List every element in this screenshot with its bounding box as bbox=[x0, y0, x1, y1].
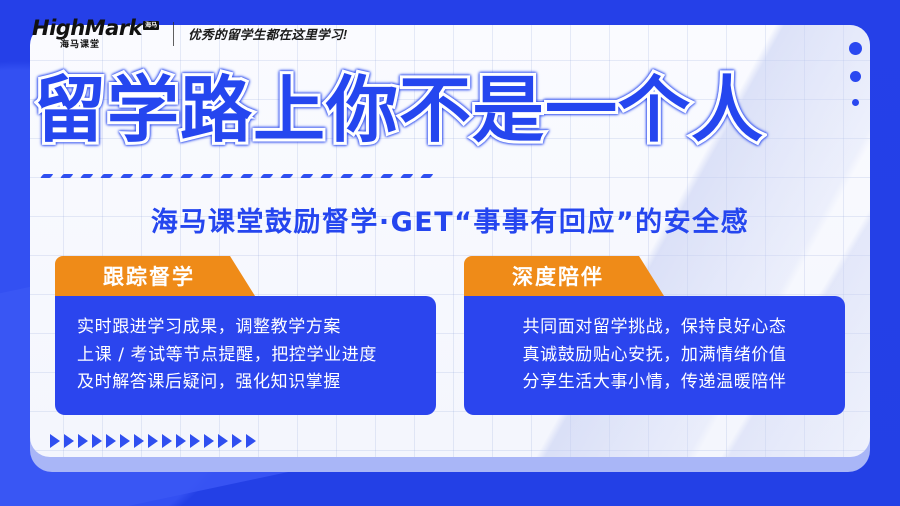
arrow-mark bbox=[50, 434, 60, 448]
dash-mark bbox=[81, 174, 94, 178]
feature-line: 及时解答课后疑问，强化知识掌握 bbox=[77, 369, 416, 397]
logo-wordmark: HighMark海马 bbox=[32, 18, 159, 39]
dot-decoration bbox=[849, 42, 862, 106]
dot-small bbox=[852, 99, 859, 106]
dash-mark bbox=[161, 174, 174, 178]
dash-mark bbox=[281, 174, 294, 178]
feature-card-companionship: 深度陪伴 共同面对留学挑战，保持良好心态 真诚鼓励贴心安抚，加满情绪价值 分享生… bbox=[464, 256, 845, 415]
feature-card-body: 共同面对留学挑战，保持良好心态 真诚鼓励贴心安抚，加满情绪价值 分享生活大事小情… bbox=[464, 296, 845, 415]
logo-wordmark-text: HighMark bbox=[32, 16, 142, 40]
dash-mark bbox=[181, 174, 194, 178]
arrow-mark bbox=[218, 434, 228, 448]
feature-card-title: 跟踪督学 bbox=[103, 261, 195, 291]
dash-mark bbox=[201, 174, 214, 178]
arrow-mark bbox=[92, 434, 102, 448]
feature-line: 共同面对留学挑战，保持良好心态 bbox=[480, 314, 829, 342]
arrow-mark bbox=[106, 434, 116, 448]
poster-root: HighMark海马 海马课堂 优秀的留学生都在这里学习! 留学路上你不是一个人… bbox=[0, 0, 900, 506]
arrow-decoration bbox=[50, 434, 256, 448]
arrow-mark bbox=[176, 434, 186, 448]
feature-line: 分享生活大事小情，传递温暖陪伴 bbox=[480, 369, 829, 397]
dash-mark bbox=[401, 174, 414, 178]
dot-medium bbox=[850, 71, 861, 82]
feature-card-header: 深度陪伴 bbox=[464, 256, 664, 296]
feature-line: 真诚鼓励贴心安抚，加满情绪价值 bbox=[480, 342, 829, 370]
arrow-mark bbox=[204, 434, 214, 448]
header-divider bbox=[173, 22, 174, 46]
arrow-mark bbox=[148, 434, 158, 448]
dash-mark bbox=[261, 174, 274, 178]
dash-mark bbox=[381, 174, 394, 178]
logo: HighMark海马 海马课堂 bbox=[32, 18, 159, 49]
dash-mark bbox=[241, 174, 254, 178]
arrow-mark bbox=[134, 434, 144, 448]
dashed-divider bbox=[42, 174, 432, 178]
brand-tagline: 优秀的留学生都在这里学习! bbox=[188, 24, 347, 43]
dash-mark bbox=[121, 174, 134, 178]
arrow-mark bbox=[64, 434, 74, 448]
feature-card-list: 跟踪督学 实时跟进学习成果，调整教学方案 上课 / 考试等节点提醒，把控学业进度… bbox=[55, 256, 845, 415]
logo-subtext: 海马课堂 bbox=[60, 40, 100, 49]
page-title: 留学路上你不是一个人 bbox=[34, 74, 764, 146]
feature-card-body: 实时跟进学习成果，调整教学方案 上课 / 考试等节点提醒，把控学业进度 及时解答… bbox=[55, 296, 436, 415]
feature-line: 上课 / 考试等节点提醒，把控学业进度 bbox=[77, 342, 416, 370]
dash-mark bbox=[141, 174, 154, 178]
arrow-mark bbox=[246, 434, 256, 448]
arrow-mark bbox=[120, 434, 130, 448]
dash-mark bbox=[421, 174, 434, 178]
dash-mark bbox=[101, 174, 114, 178]
dot-large bbox=[849, 42, 862, 55]
arrow-mark bbox=[232, 434, 242, 448]
feature-card-title: 深度陪伴 bbox=[512, 261, 604, 291]
dash-mark bbox=[341, 174, 354, 178]
dash-mark bbox=[321, 174, 334, 178]
logo-superscript: 海马 bbox=[143, 21, 159, 30]
dash-mark bbox=[361, 174, 374, 178]
page-subtitle: 海马课堂鼓励督学·GET“事事有回应”的安全感 bbox=[0, 200, 900, 239]
dash-mark bbox=[301, 174, 314, 178]
arrow-mark bbox=[190, 434, 200, 448]
arrow-mark bbox=[162, 434, 172, 448]
feature-card-tracking: 跟踪督学 实时跟进学习成果，调整教学方案 上课 / 考试等节点提醒，把控学业进度… bbox=[55, 256, 436, 415]
dash-mark bbox=[61, 174, 74, 178]
dash-mark bbox=[221, 174, 234, 178]
feature-line: 实时跟进学习成果，调整教学方案 bbox=[77, 314, 416, 342]
brand-header: HighMark海马 海马课堂 优秀的留学生都在这里学习! bbox=[32, 18, 348, 49]
arrow-mark bbox=[78, 434, 88, 448]
dash-mark bbox=[41, 174, 54, 178]
feature-card-header: 跟踪督学 bbox=[55, 256, 255, 296]
